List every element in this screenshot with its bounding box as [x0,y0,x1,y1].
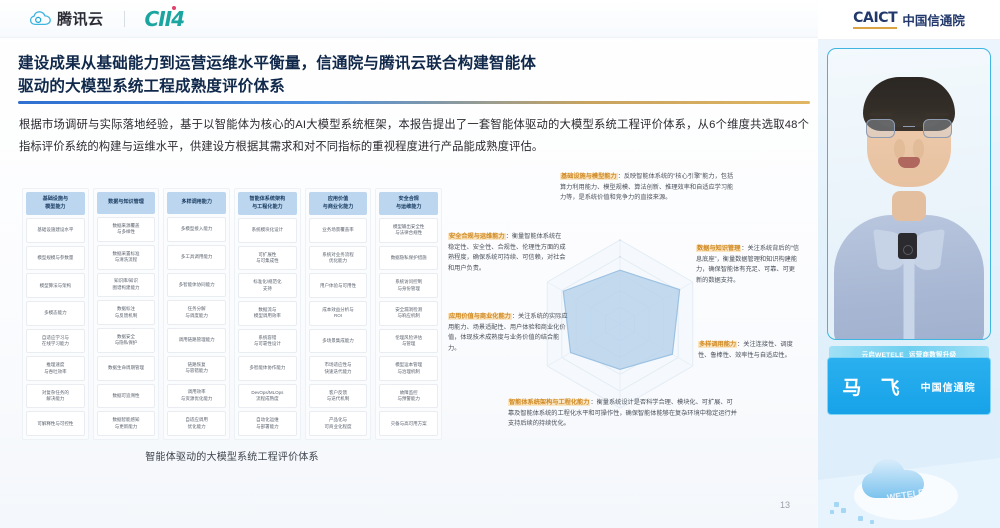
matrix-cell: 客户反馈与迭代机制 [309,384,368,409]
matrix-cell: 多模态能力 [26,301,85,326]
slide-screenshot: 腾讯云 CII4 建设成果从基础能力到运营运维水平衡量，信通院与腾讯云联合构建智… [0,0,1000,528]
matrix-column-header: 安全合规与运维能力 [379,192,438,215]
eyebrow-right [925,113,949,116]
matrix-cell: 系统模块化设计 [238,218,297,243]
matrix-cell: 自适应调用优化能力 [167,411,226,436]
annotation-term: 数据与知识管理 [696,245,741,252]
matrix-column: 多样调用能力多模型接入能力多工具调用能力多智能体协同能力任务分解与调度能力调用链… [163,188,230,440]
matrix-cell: 多场景集成能力 [309,329,368,354]
matrix-cell: 链路恢复与容错能力 [167,356,226,381]
matrix-cell: 对复杂任务的解决能力 [26,384,85,409]
radar-tick [619,290,621,292]
matrix-cell: 业务场景覆盖率 [309,218,368,243]
radar-annotation-zone: 基础设施与模型能力：反映智能体系统的“核心引擎”能力，包括算力利用能力、模型规模… [448,172,800,440]
matrix-cell: 数据安全与隐私保护 [97,328,156,353]
annotation-term: 应用价值与商业化能力 [448,313,512,320]
page-number: 13 [780,500,790,510]
matrix-column-header: 应用价值与商业化能力 [309,192,368,215]
annotation-data-knowledge: 数据与知识管理：关注系统背后的“信息底座”，衡量数据管理和知识构建能力，确保智能… [696,244,800,286]
annotation-multi-invocation: 多样调用能力：关注连接性、调度性、鲁棒性、效率性与自适应性。 [698,340,798,361]
radar-tick [619,273,621,275]
matrix-cell: 安全漏洞检测与响应机制 [379,301,438,326]
annotation-term: 智能体系统架构与工程化能力 [508,399,590,406]
radar-tick [619,239,621,241]
matrix-cell: 多智能体协同能力 [167,273,226,298]
eyebrow-left [869,113,893,116]
matrix-cell: 系统对业务流程优化能力 [309,246,368,271]
cloud-icon [30,11,51,26]
speaker-rail: CAICT 中国信通院 [818,0,1000,528]
wetele-cloud-graphic: WETELE [818,424,1000,528]
matrix-cell: 市场适应性与快速迭代能力 [309,356,368,381]
lapel-microphone-icon [898,233,917,259]
title-line-1: 建设成果从基础能力到运营运维水平衡量，信通院与腾讯云联合构建智能体 [18,52,808,75]
matrix-column: 智能体系统架构与工程化能力系统模块化设计可扩展性与可集成性标准化/规范化支持数据… [234,188,301,440]
caict-logo: CAICT 中国信通院 [818,0,1000,40]
radar-tick [619,256,621,258]
cii-logo-text: CII4 [145,7,184,31]
matrix-cell: 成本效益分析与ROI [309,301,368,326]
annotation-infrastructure: 基础设施与模型能力：反映智能体系统的“核心引擎”能力，包括算力利用能力、模型规模… [560,172,738,204]
matrix-cell: 多智能体协作能力 [238,356,297,381]
matrix-cell: 系统访问控制与身份管理 [379,273,438,298]
speaker-name: 马 飞 [842,373,906,400]
matrix-cell: 用户体验与可用性 [309,273,368,298]
matrix-cell: 数据流与模型调用效率 [238,301,297,326]
matrix-cell: 数据标注与反馈机制 [97,300,156,325]
speaker-org: 中国信通院 [921,379,976,394]
name-card-body: 马 飞 中国信通院 [827,357,991,415]
annotation-term: 基础设施与模型能力 [560,173,618,180]
title-line-2: 驱动的大模型系统工程成熟度评价体系 [18,75,808,98]
matrix-column-header: 智能体系统架构与工程化能力 [238,192,297,215]
matrix-cell: 数据来源覆盖与多样性 [97,217,156,242]
matrix-cell: 数据智能感知与更新能力 [97,411,156,436]
radar-series-polygon [563,270,679,369]
matrix-cell: 标准化/规范化支持 [238,273,297,298]
annotation-application-value: 应用价值与商业化能力：关注系统的实际应用能力、场景适配性、用户体验和商业化价值，… [448,312,570,354]
title-underline [18,101,810,104]
matrix-cell: 自适应学习与在线学习能力 [26,329,85,354]
speaker-portrait [828,49,990,339]
matrix-cell: 调用链路管理能力 [167,328,226,353]
matrix-cell: 伦理风险评估与管理 [379,329,438,354]
glasses-bridge [903,126,915,127]
matrix-cell: 任务分解与调度能力 [167,300,226,325]
presentation-slide: 腾讯云 CII4 建设成果从基础能力到运营运维水平衡量，信通院与腾讯云联合构建智… [0,0,818,528]
glasses-lens-right [923,119,952,138]
matrix-cell: 模型算法与架构 [26,273,85,298]
matrix-cell: 可解释性与可控性 [26,411,85,436]
matrix-cell: 故障监控与预警能力 [379,384,438,409]
tencent-cloud-logo: 腾讯云 [30,8,104,29]
matrix-cell: 模型输出安全性与法律合规性 [379,218,438,243]
matrix-cell: 灾备与高可用方案 [379,411,438,436]
header-divider [124,11,125,27]
matrix-cell: 模型规模与参数量 [26,246,85,271]
cii-logo-dot [172,6,176,10]
matrix-column: 基础设施与模型能力基础设施建设水平模型规模与参数量模型算法与架构多模态能力自适应… [22,188,89,440]
matrix-cell: 可扩展性与可集成性 [238,246,297,271]
matrix-cell: 知识库/知识图谱构建能力 [97,273,156,298]
matrix-column: 应用价值与商业化能力业务场景覆盖率系统对业务流程优化能力用户体验与可用性成本效益… [305,188,372,440]
caict-logo-cn: 中国信通院 [902,10,965,29]
matrix-cell: DevOps/MLOps流程成熟度 [238,384,297,409]
matrix-cell: 数据采置标准与清洗流程 [97,245,156,270]
glasses-lens-left [866,119,895,138]
slide-title: 建设成果从基础能力到运营运维水平衡量，信通院与腾讯云联合构建智能体 驱动的大模型… [18,52,808,98]
ear-right [894,139,905,159]
matrix-column-header: 多样调用能力 [167,192,226,214]
evaluation-matrix: 基础设施与模型能力基础设施建设水平模型规模与参数量模型算法与架构多模态能力自适应… [22,188,442,440]
speaker-mouth [898,157,920,168]
matrix-cell: 调用效率与资源优化能力 [167,384,226,409]
matrix-cell: 产品化与可商业化程度 [309,411,368,436]
matrix-column: 安全合规与运维能力模型输出安全性与法律合规性数据隐私保护措施系统访问控制与身份管… [375,188,442,440]
matrix-cell: 推理速度与吞吐效率 [26,356,85,381]
matrix-cell: 自动化运维与部署能力 [238,411,297,436]
matrix-cell: 数据可追溯性 [97,384,156,409]
matrix-cell: 模型运本管理与治理机制 [379,356,438,381]
annotation-security-ops: 安全合规与运维能力：衡量智能体系统在稳定性、安全性、合规性、伦理性方面的成熟程度… [448,232,566,274]
speaker-neck [892,191,926,221]
matrix-cell: 基础设施建设水平 [26,218,85,243]
matrix-cell: 数据隐私保护措施 [379,246,438,271]
ear-left [913,139,924,159]
matrix-column-header: 基础设施与模型能力 [26,192,85,215]
matrix-cell: 多模型接入能力 [167,217,226,242]
tencent-cloud-label: 腾讯云 [57,8,104,29]
annotation-term: 安全合规与运维能力 [448,233,506,240]
caict-logo-en: CAICT [853,10,897,29]
annotation-term: 多样调用能力 [698,341,737,348]
slide-header-bar: 腾讯云 CII4 [0,0,818,38]
matrix-cell: 多工具调用能力 [167,245,226,270]
matrix-caption: 智能体驱动的大模型系统工程评价体系 [22,448,442,463]
matrix-cell: 系统容错与可靠性设计 [238,329,297,354]
speaker-video-feed[interactable] [827,48,991,340]
annotation-architecture: 智能体系统架构与工程化能力：衡量系统设计是否科学合理、模块化、可扩展、可靠及智能… [508,398,738,430]
speaker-name-card: 云启WETELE 运营商数智升级 马 飞 中国信通院 [827,346,991,422]
radar-tick [619,306,621,308]
matrix-cell: 数据生命周期管理 [97,356,156,381]
matrix-column-header: 数据与知识管理 [97,192,156,214]
slide-paragraph: 根据市场调研与实际落地经验，基于以智能体为核心的AI大模型系统框架，本报告提出了… [19,114,809,158]
matrix-column: 数据与知识管理数据来源覆盖与多样性数据采置标准与清洗流程知识库/知识图谱构建能力… [93,188,160,440]
cii-logo: CII4 [145,7,184,31]
